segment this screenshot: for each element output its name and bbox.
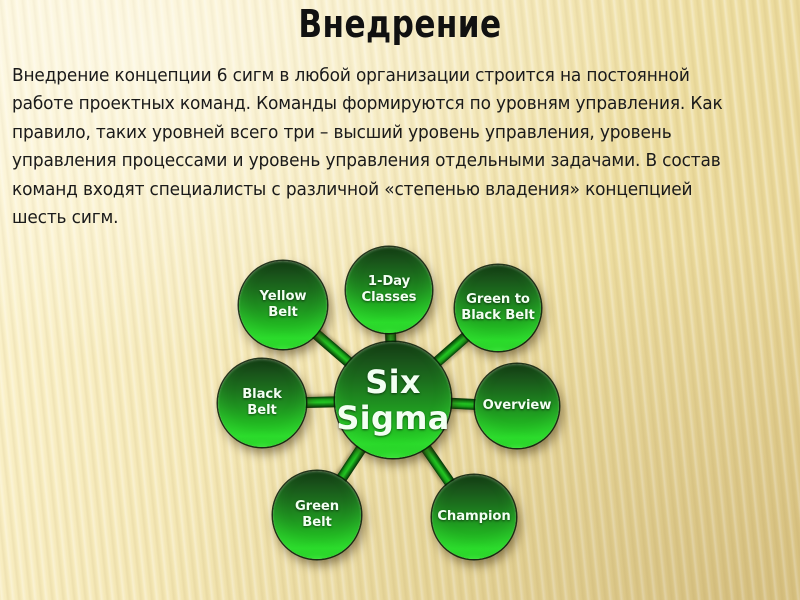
diagram-node-yellow-belt[interactable]: Yellow Belt — [239, 261, 327, 349]
diagram-node-label: Yellow Belt — [239, 289, 327, 321]
diagram-node-green-belt[interactable]: Green Belt — [273, 471, 361, 559]
diagram-node-one-day-classes[interactable]: 1-Day Classes — [346, 247, 432, 333]
diagram-node-champion[interactable]: Champion — [432, 475, 516, 559]
page-title: Внедрение — [72, 2, 728, 46]
diagram-node-label: Six Sigma — [332, 364, 453, 436]
diagram-node-green-to-black-belt[interactable]: Green to Black Belt — [455, 265, 541, 351]
body-paragraph: Внедрение концепции 6 сигм в любой орган… — [12, 62, 735, 232]
diagram-node-label: Black Belt — [238, 387, 286, 420]
diagram-node-six-sigma[interactable]: Six Sigma — [335, 342, 451, 458]
diagram-node-label: Green Belt — [291, 499, 343, 532]
diagram-node-black-belt[interactable]: Black Belt — [218, 359, 306, 447]
diagram-node-label: 1-Day Classes — [358, 274, 421, 307]
diagram-node-label: Overview — [479, 398, 556, 414]
diagram-node-label: Champion — [433, 509, 514, 525]
slide-canvas: Внедрение Внедрение концепции 6 сигм в л… — [0, 0, 800, 600]
diagram-node-overview[interactable]: Overview — [475, 364, 559, 448]
diagram-node-label: Green to Black Belt — [457, 292, 538, 325]
